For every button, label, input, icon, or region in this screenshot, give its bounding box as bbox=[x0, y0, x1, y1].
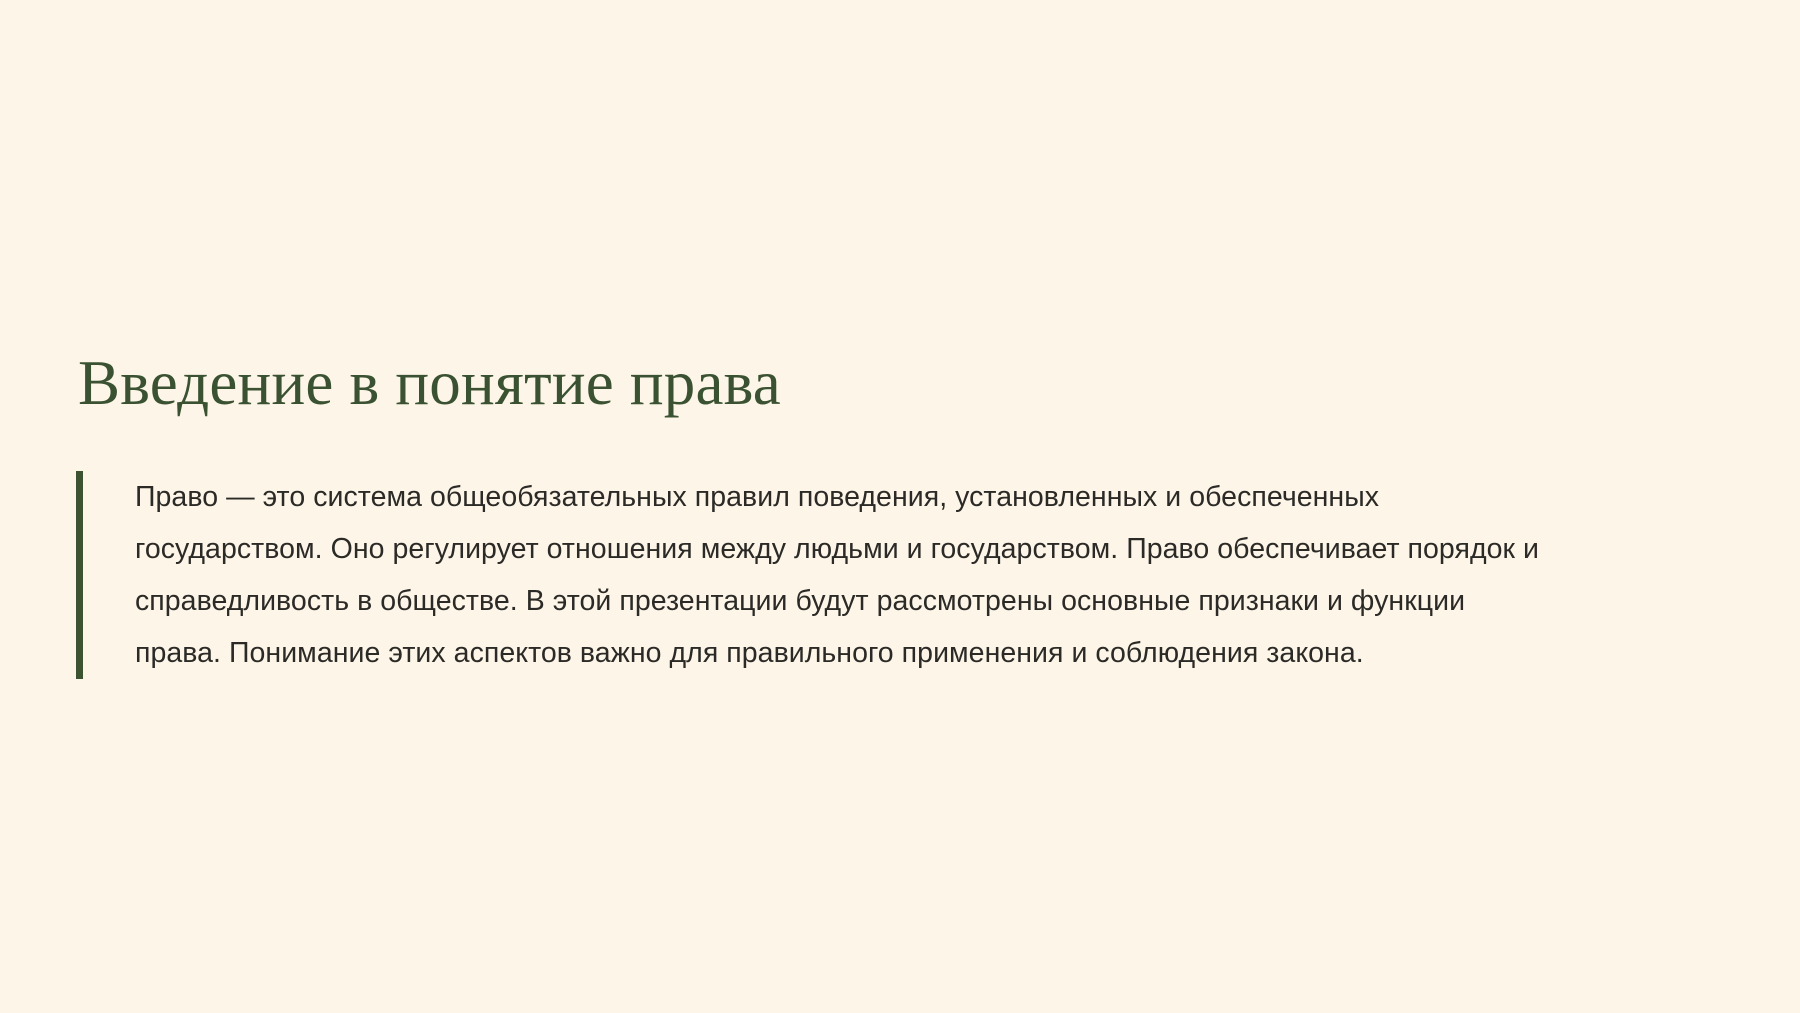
slide-content: Введение в понятие права Право — это сис… bbox=[76, 352, 1736, 679]
slide-canvas: Введение в понятие права Право — это сис… bbox=[0, 0, 1800, 1013]
page-title: Введение в понятие права bbox=[78, 352, 1736, 415]
body-paragraph: Право — это система общеобязательных пра… bbox=[135, 471, 1555, 679]
quote-block: Право — это система общеобязательных пра… bbox=[76, 471, 1736, 679]
